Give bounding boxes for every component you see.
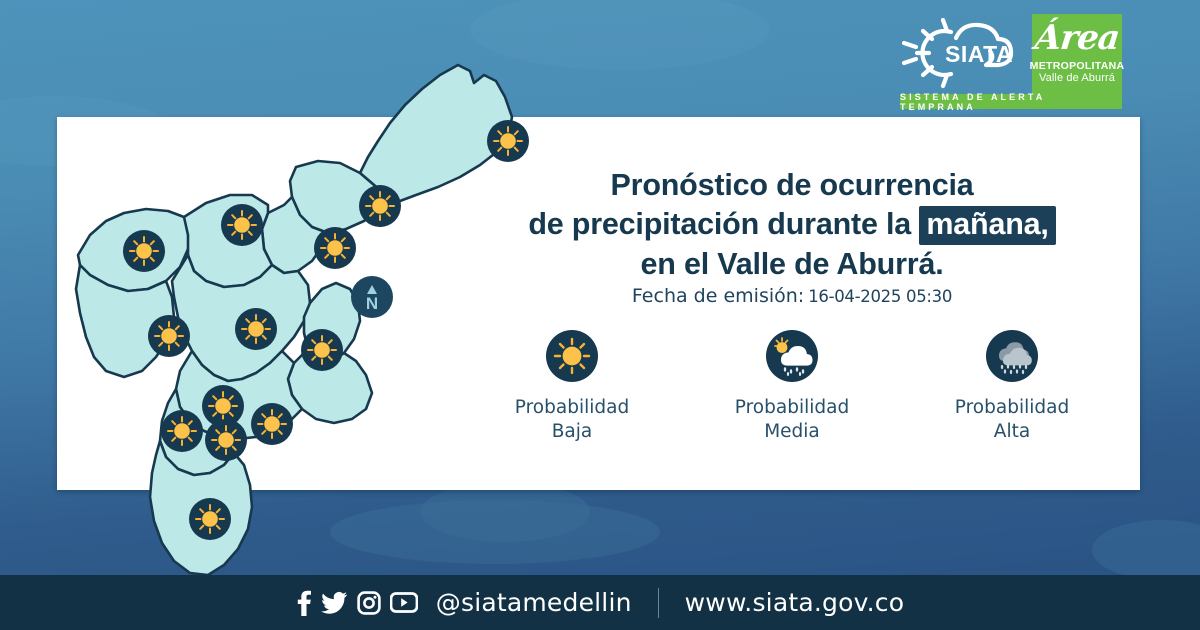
siata-sun-cloud-logo: SIATA [899, 14, 1024, 92]
marker-envigado [251, 403, 293, 445]
title-line-3: en el Valle de Aburrá. [462, 245, 1122, 284]
svg-text:SIATA: SIATA [945, 41, 1013, 67]
legend-label-baja-line1: Probabilidad [515, 396, 629, 420]
legend-item-alta: Probabilidad Alta [902, 330, 1122, 444]
probability-legend: Probabilidad Baja [462, 330, 1122, 444]
area-logo-line2: Valle de Aburrá [1039, 72, 1115, 85]
facebook-icon[interactable] [296, 590, 312, 616]
instagram-icon[interactable] [357, 591, 381, 615]
area-logo-line1: METROPOLITANA [1030, 60, 1125, 72]
legend-label-baja-line2: Baja [515, 420, 629, 444]
logo-group: SIATA Área METROPOLITANA Valle de Aburrá [899, 14, 1122, 94]
footer-divider [658, 588, 659, 618]
area-logo-script: Área [1033, 16, 1122, 60]
emission-label: Fecha de emisión: [632, 285, 804, 307]
legend-item-media: Probabilidad Media [682, 330, 902, 444]
social-handle[interactable]: @siatamedellin [436, 588, 632, 617]
title-line-2: de precipitación durante la mañana, [462, 205, 1122, 245]
emission-value: 16-04-2025 05:30 [808, 287, 952, 306]
marker-san-pedro [123, 230, 165, 272]
north-arrow-icon: N [351, 276, 393, 318]
legend-item-baja: Probabilidad Baja [462, 330, 682, 444]
marker-medellin [235, 308, 277, 350]
website-url[interactable]: www.siata.gov.co [685, 588, 905, 617]
sun-icon [546, 330, 598, 382]
marker-sabaneta [205, 419, 247, 461]
marker-guarne [301, 329, 343, 371]
legend-label-alta: Probabilidad Alta [955, 396, 1069, 444]
legend-label-baja: Probabilidad Baja [515, 396, 629, 444]
infographic-canvas: SIATA Área METROPOLITANA Valle de Aburrá… [0, 0, 1200, 630]
sun-cloud-rain-icon [766, 330, 818, 382]
legend-label-media-line2: Media [735, 420, 849, 444]
page-title: Pronóstico de ocurrencia de precipitació… [462, 166, 1122, 284]
svg-text:N: N [366, 294, 378, 313]
cloud-rain-icon [986, 330, 1038, 382]
marker-san-jeronimo [148, 315, 190, 357]
marker-la-estrella [161, 410, 203, 452]
title-line-1: Pronóstico de ocurrencia [462, 166, 1122, 205]
title-line-2-text: de precipitación durante la [528, 207, 911, 241]
tagline-text: SISTEMA DE ALERTA TEMPRANA [900, 92, 1122, 112]
marker-girardota [359, 185, 401, 227]
emission-date: Fecha de emisión:16-04-2025 05:30 [462, 285, 1122, 308]
youtube-icon[interactable] [390, 592, 418, 613]
legend-label-alta-line1: Probabilidad [955, 396, 1069, 420]
marker-barbosa [487, 120, 529, 162]
twitter-icon[interactable] [321, 590, 348, 616]
valle-de-aburra-map: N [60, 45, 530, 580]
social-icon-group [296, 590, 418, 616]
marker-copacabana [314, 227, 356, 269]
marker-bello [221, 204, 263, 246]
legend-label-media-line1: Probabilidad [735, 396, 849, 420]
tagline-strip: SISTEMA DE ALERTA TEMPRANA [900, 94, 1122, 109]
marker-caldas [189, 498, 231, 540]
title-highlight-manana: mañana, [919, 206, 1055, 245]
footer-bar: @siatamedellin www.siata.gov.co [0, 575, 1200, 630]
area-metropolitana-logo: Área METROPOLITANA Valle de Aburrá [1032, 14, 1122, 94]
legend-label-media: Probabilidad Media [735, 396, 849, 444]
legend-label-alta-line2: Alta [955, 420, 1069, 444]
